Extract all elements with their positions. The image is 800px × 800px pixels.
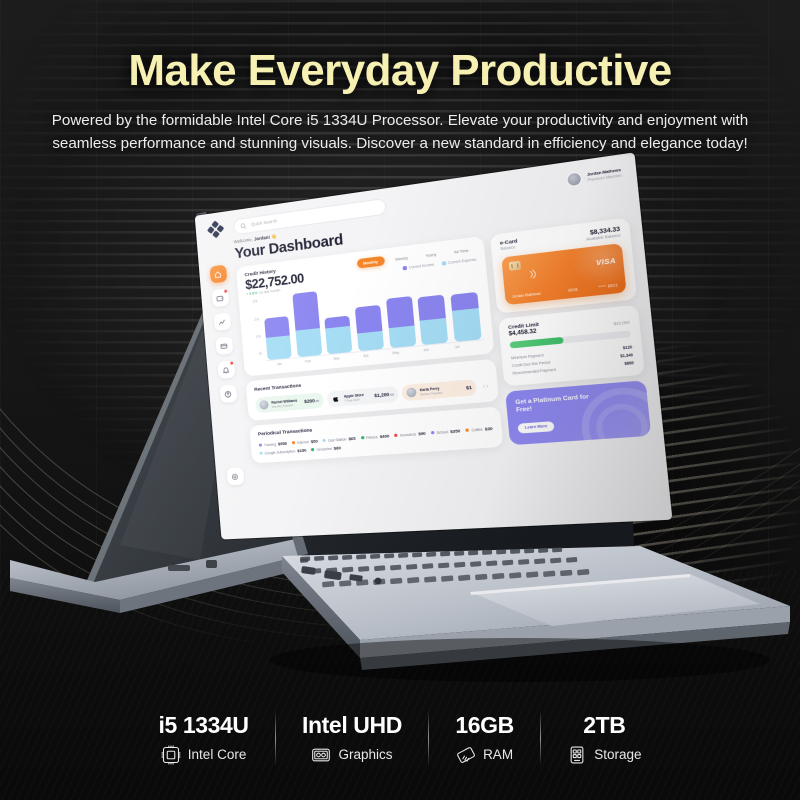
chart-bar xyxy=(418,294,449,345)
transaction-amount: $1 xyxy=(466,385,472,391)
spec-gpu-label: Graphics xyxy=(338,747,392,762)
help-icon xyxy=(224,389,232,398)
tab-yearly[interactable]: Yearly xyxy=(418,249,443,261)
chart-x-tick: May xyxy=(383,350,408,357)
transaction-pager[interactable]: ‹ › xyxy=(480,378,489,395)
spec-gpu-label-row: Graphics xyxy=(311,745,392,765)
chart-segment-expense xyxy=(357,331,384,352)
ecard-subtitle: Balance xyxy=(500,245,518,251)
card-icon xyxy=(220,341,228,350)
credit-limit-max: $10,000 xyxy=(614,320,630,326)
ytick: 20k xyxy=(254,317,259,322)
tag-dot xyxy=(260,452,263,455)
dashboard-columns: Credit History $22,752.00 + 9.8% vs last… xyxy=(236,217,651,463)
tag-dot xyxy=(292,441,295,444)
periodical-tag[interactable]: Insurance$90 xyxy=(394,431,425,439)
chart-bar-stack xyxy=(385,296,416,349)
spec-cpu: i5 1334U Intel Core xyxy=(132,712,274,765)
chart-bar-stack xyxy=(355,305,385,352)
periodical-tag[interactable]: Gas Station$65 xyxy=(323,436,356,444)
credit-limit-card: Credit Limit $4,458.32 $10,000 Minimum P… xyxy=(498,305,645,386)
chart-bar-stack xyxy=(292,292,322,358)
chart-bar xyxy=(264,316,292,360)
chart-x-tick: Feb xyxy=(296,359,320,365)
settings-icon xyxy=(231,472,239,481)
transaction-item[interactable]: Karla PerrySecure Transfer$1 xyxy=(402,379,477,401)
spec-cpu-label-row: Intel Core xyxy=(161,745,247,765)
credit-limit-amount: $4,458.32 xyxy=(508,328,536,337)
chart-segment-expense xyxy=(388,325,416,348)
transaction-text: Karla PerrySecure Transfer xyxy=(419,386,442,396)
spec-cpu-label: Intel Core xyxy=(188,747,247,762)
tag-value: $65 xyxy=(348,436,355,442)
credit-limit-rows: Minimum Payment$120Credit Due this Perio… xyxy=(511,343,634,378)
credit-limit-row-value: $1,340 xyxy=(620,353,633,359)
chart-segment-expense xyxy=(266,335,292,361)
credit-limit-progress-fill xyxy=(510,337,564,349)
hero-headline: Make Everyday Productive xyxy=(0,48,800,95)
credit-history-controls: Monthly Weekly Yearly All Time Current I… xyxy=(356,245,476,276)
profile-text: Jordan Mathews Premium Member xyxy=(587,167,623,182)
tag-label: Coffee xyxy=(471,427,483,432)
ytick: 10k xyxy=(255,334,260,339)
credit-limit-row-label: Recommended Payment xyxy=(512,368,556,376)
ecard-balance: $8,334.33 Available Balance xyxy=(585,226,620,241)
card-chip-icon xyxy=(509,261,521,270)
chart-x-tick: Jun xyxy=(414,347,439,354)
chart-segment-income xyxy=(385,296,414,328)
tag-value: $350 xyxy=(450,428,460,434)
periodical-tag[interactable]: Training$550 xyxy=(259,441,287,448)
promo-banner: Make Everyday Productive Powered by the … xyxy=(0,0,800,800)
chart-bar-stack xyxy=(325,316,353,355)
right-column: e-Card Balance $8,334.33 Available Balan… xyxy=(490,217,651,445)
spec-ram-value: 16GB xyxy=(455,712,513,739)
legend-expense: Current Expense xyxy=(442,257,477,265)
tag-label: Google Subscription xyxy=(264,449,295,455)
recent-transactions-list: Rachel WilliamsMonthly Transfer$200.00Ap… xyxy=(255,378,489,413)
memory-icon xyxy=(456,745,476,765)
dashboard-app: Quick Search Jordan Mathews Premium Memb… xyxy=(195,152,673,539)
storage-icon xyxy=(567,745,587,765)
transaction-amount: $1,200.00 xyxy=(374,392,394,399)
periodical-tag[interactable]: Groceries$80 xyxy=(311,445,341,452)
promo-title: Get a Platinum Card for Free! xyxy=(515,393,591,415)
sidebar-item-cards[interactable] xyxy=(215,336,233,355)
chart-bar xyxy=(385,296,416,349)
chart-icon xyxy=(218,317,226,326)
chart-segment-expense xyxy=(295,328,322,358)
home-icon xyxy=(214,270,222,279)
avatar-icon xyxy=(259,400,269,410)
transaction-text: Apple Store7 Aug 2024 xyxy=(344,393,365,403)
search-icon xyxy=(240,222,246,229)
tab-alltime[interactable]: All Time xyxy=(447,245,476,258)
tag-label: Training xyxy=(264,442,276,447)
tag-dot xyxy=(311,448,314,451)
sidebar-item-settings[interactable] xyxy=(226,467,244,485)
search-placeholder: Quick Search xyxy=(251,218,278,227)
chart-x-tick: Jul xyxy=(444,344,470,351)
spec-cpu-value: i5 1334U xyxy=(158,712,248,739)
tag-value: $550 xyxy=(278,441,287,447)
ytick: 0k xyxy=(259,352,263,356)
spec-gpu-value: Intel UHD xyxy=(302,712,402,739)
spec-storage-value: 2TB xyxy=(583,712,625,739)
laptop-screen: Quick Search Jordan Mathews Premium Memb… xyxy=(195,152,673,539)
chart-bar xyxy=(325,316,353,355)
app-logo-icon[interactable] xyxy=(207,220,225,239)
transaction-amount: $200.00 xyxy=(304,398,319,404)
periodical-tag[interactable]: Internet$50 xyxy=(292,439,318,446)
ecard-titles: e-Card Balance xyxy=(500,239,518,251)
welcome-name: Jordan! xyxy=(254,235,270,242)
tag-dot xyxy=(259,444,262,447)
spec-bar: i5 1334U Intel Core Intel UHD Graphics xyxy=(0,710,800,766)
sidebar-item-alerts[interactable] xyxy=(217,360,235,379)
ecard-card: e-Card Balance $8,334.33 Available Balan… xyxy=(490,217,637,313)
spec-ram-label: RAM xyxy=(483,747,513,762)
chart-bar xyxy=(355,305,385,352)
credit-limit-row-value: $680 xyxy=(624,361,634,366)
spec-storage-label: Storage xyxy=(594,747,641,762)
tag-label: Groceries xyxy=(316,447,332,452)
hero-body: Powered by the formidable Intel Core i5 … xyxy=(50,109,750,155)
tag-value: $80 xyxy=(334,445,341,451)
virtual-credit-card[interactable]: VISA Jordan Mathews 09/28 **** 8821 xyxy=(501,243,626,305)
chart-bar-stack xyxy=(264,316,292,360)
chart-segment-expense xyxy=(420,318,449,346)
sidebar-item-home[interactable] xyxy=(209,265,227,284)
notification-dot xyxy=(224,290,227,293)
gpu-icon xyxy=(311,745,331,765)
tag-label: Internet xyxy=(297,440,309,445)
ytick: 30k xyxy=(252,299,257,304)
apple-icon xyxy=(331,394,341,404)
chart-bar xyxy=(292,292,322,358)
credit-history-summary: Credit History $22,752.00 + 9.8% vs last… xyxy=(244,266,304,297)
periodical-tag[interactable]: Coffee$30 xyxy=(466,426,493,433)
spec-gpu: Intel UHD Graphics xyxy=(276,712,428,765)
tab-weekly[interactable]: Weekly xyxy=(388,252,415,265)
contactless-icon xyxy=(528,267,540,280)
sidebar-item-wallet[interactable] xyxy=(211,288,229,307)
wallet-icon xyxy=(216,294,224,303)
tag-label: Insurance xyxy=(400,432,417,437)
transaction-text: Rachel WilliamsMonthly Transfer xyxy=(271,398,298,408)
chart-segment-expense xyxy=(452,309,482,343)
tag-value: $30 xyxy=(485,426,493,432)
chart-segment-income xyxy=(355,305,383,334)
left-column: Credit History $22,752.00 + 9.8% vs last… xyxy=(236,236,504,464)
tag-value: $90 xyxy=(418,431,426,437)
avatar-icon xyxy=(406,388,417,398)
tag-dot xyxy=(395,434,399,437)
tab-monthly[interactable]: Monthly xyxy=(356,256,384,269)
sidebar-item-analytics[interactable] xyxy=(213,312,231,331)
tag-value: $150 xyxy=(297,448,307,454)
spec-storage-label-row: Storage xyxy=(567,745,641,765)
chart-segment-expense xyxy=(325,325,353,354)
transaction-item[interactable]: Apple Store7 Aug 2024$1,200.00 xyxy=(327,386,399,408)
tag-label: School xyxy=(436,430,448,435)
tag-value: $50 xyxy=(311,439,318,445)
spec-ram: 16GB RAM xyxy=(429,712,539,765)
legend-income: Current Income xyxy=(403,262,435,270)
sidebar-item-help[interactable] xyxy=(219,385,237,404)
transaction-item[interactable]: Rachel WilliamsMonthly Transfer$200.00 xyxy=(255,393,324,414)
dashboard-content: Welcome, Jordan! 👋 Your Dashboard Credit xyxy=(234,186,654,484)
tag-label: Fitness xyxy=(366,435,378,440)
chart-segment-income xyxy=(292,292,320,331)
credit-limit-row-value: $120 xyxy=(623,345,633,350)
promo-cta-button[interactable]: Learn More xyxy=(517,421,555,434)
avatar xyxy=(566,171,583,187)
delta-value: + 9.8% xyxy=(246,291,257,296)
bell-icon xyxy=(222,365,230,374)
card-expiry: 09/28 xyxy=(568,287,578,292)
chart-bar xyxy=(450,292,482,342)
transaction-sub: 7 Aug 2024 xyxy=(344,397,364,403)
chart-x-tick: Mar xyxy=(325,356,349,362)
chart-x-tick: Jan xyxy=(268,361,291,367)
tag-dot xyxy=(323,439,326,442)
tag-dot xyxy=(466,429,470,432)
chart-bar-stack xyxy=(450,292,482,342)
transaction-sub: Secure Transfer xyxy=(420,390,443,396)
spec-storage: 2TB Storage xyxy=(541,712,667,765)
tag-dot xyxy=(361,436,364,439)
cpu-icon xyxy=(161,745,181,765)
tag-value: $400 xyxy=(380,434,390,440)
tag-label: Gas Station xyxy=(328,437,347,442)
profile-chip[interactable]: Jordan Mathews Premium Member xyxy=(566,166,622,188)
chart-x-tick: Apr xyxy=(354,353,379,359)
card-holder: Jordan Mathews xyxy=(512,291,541,298)
hero-text-block: Make Everyday Productive Powered by the … xyxy=(0,48,800,155)
chart-segment-income xyxy=(418,294,447,320)
chart-bar-stack xyxy=(418,294,449,345)
notification-dot xyxy=(230,362,233,365)
transaction-sub: Monthly Transfer xyxy=(272,402,298,408)
periodical-tag[interactable]: Fitness$400 xyxy=(361,434,390,441)
periodical-tag[interactable]: Google Subscription$150 xyxy=(259,448,306,456)
promo-card[interactable]: Get a Platinum Card for Free! Learn More xyxy=(505,380,651,446)
spec-ram-label-row: RAM xyxy=(456,745,513,765)
tag-dot xyxy=(431,431,435,434)
periodical-tag[interactable]: School$350 xyxy=(431,428,461,435)
